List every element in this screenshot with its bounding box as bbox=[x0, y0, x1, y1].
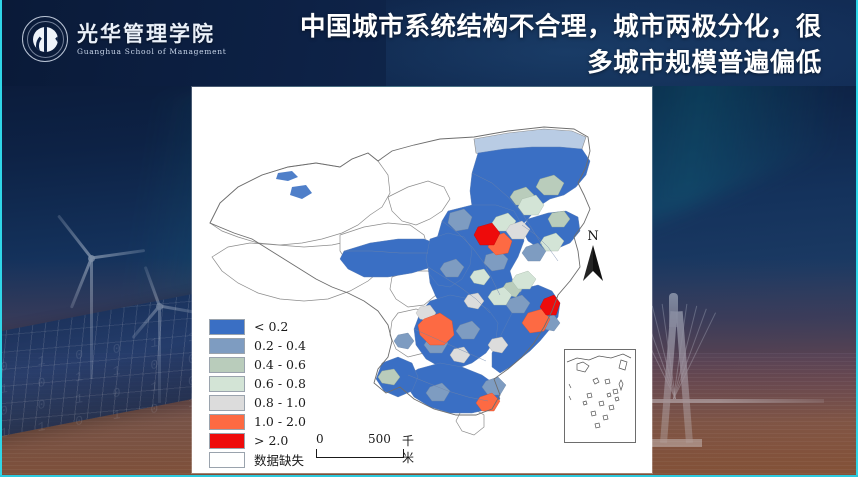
slide-header: 光华管理学院 Guanghua School of Management 中国城… bbox=[0, 0, 858, 86]
bridge-pylon-top bbox=[669, 293, 678, 327]
legend-swatch bbox=[209, 452, 245, 468]
turbine-blade bbox=[131, 305, 160, 339]
north-arrow-label: N bbox=[577, 230, 609, 243]
inset-map-graphic bbox=[565, 350, 633, 440]
legend-label: > 2.0 bbox=[254, 433, 288, 448]
map-panel: 中国城市人口规模合适度地图 bbox=[192, 87, 652, 473]
legend-label: 数据缺失 bbox=[254, 450, 304, 469]
slide-root: 0 1 0 0 1 1 0 1 0 1 0 1 1 0 0 1 0 1 0 0 … bbox=[0, 0, 858, 477]
legend-item: 0.6 - 0.8 bbox=[209, 374, 306, 393]
peking-university-seal-icon bbox=[22, 16, 68, 62]
logo-name-en: Guanghua School of Management bbox=[77, 48, 227, 56]
north-arrow: N bbox=[577, 230, 609, 288]
south-china-sea-inset bbox=[564, 349, 636, 443]
turbine-hub bbox=[156, 303, 163, 310]
turbine-hub bbox=[88, 255, 95, 262]
legend-label: < 0.2 bbox=[254, 319, 288, 334]
legend-item: 0.8 - 1.0 bbox=[209, 393, 306, 412]
legend-label: 0.6 - 0.8 bbox=[254, 376, 306, 391]
legend-label: 0.8 - 1.0 bbox=[254, 395, 306, 410]
legend-item: 数据缺失 bbox=[209, 450, 306, 469]
bridge-pylon-left bbox=[660, 311, 677, 443]
legend-label: 0.4 - 0.6 bbox=[254, 357, 306, 372]
map-legend: < 0.2 0.2 - 0.4 0.4 - 0.6 0.6 - 0.8 0.8 … bbox=[209, 317, 306, 469]
legend-swatch bbox=[209, 357, 245, 373]
institution-logo: 光华管理学院 Guanghua School of Management bbox=[22, 16, 227, 62]
scale-bar-labels: 0 500 千米 bbox=[316, 432, 421, 447]
wind-turbine-right bbox=[124, 283, 194, 403]
legend-item: > 2.0 bbox=[209, 431, 306, 450]
legend-swatch bbox=[209, 338, 245, 354]
page-title: 中国城市系统结构不合理，城市两极分化，很 多城市规模普遍偏低 bbox=[222, 9, 822, 81]
turbine-mast bbox=[158, 307, 161, 403]
legend-label: 0.2 - 0.4 bbox=[254, 338, 306, 353]
scale-unit-label: 千米 bbox=[402, 432, 421, 466]
legend-swatch bbox=[209, 433, 245, 449]
legend-swatch bbox=[209, 319, 245, 335]
wind-turbine-left bbox=[46, 235, 136, 381]
legend-swatch bbox=[209, 376, 245, 392]
legend-label: 1.0 - 2.0 bbox=[254, 414, 306, 429]
legend-item: 1.0 - 2.0 bbox=[209, 412, 306, 431]
legend-item: 0.2 - 0.4 bbox=[209, 336, 306, 355]
north-arrow-icon bbox=[577, 243, 609, 283]
scale-end-label: 500 bbox=[368, 432, 391, 446]
legend-swatch bbox=[209, 414, 245, 430]
turbine-mast bbox=[90, 259, 93, 379]
logo-text-block: 光华管理学院 Guanghua School of Management bbox=[77, 22, 227, 56]
legend-swatch bbox=[209, 395, 245, 411]
legend-item: 0.4 - 0.6 bbox=[209, 355, 306, 374]
page-title-line-1: 中国城市系统结构不合理，城市两极分化，很 bbox=[222, 9, 822, 45]
bridge-base bbox=[652, 439, 702, 447]
slide-edge-left bbox=[0, 0, 2, 477]
page-title-line-2: 多城市规模普遍偏低 bbox=[222, 45, 822, 81]
scale-start-label: 0 bbox=[316, 432, 324, 446]
logo-name-cn: 光华管理学院 bbox=[77, 22, 227, 45]
seal-glyph bbox=[33, 27, 58, 52]
legend-item: < 0.2 bbox=[209, 317, 306, 336]
scale-bar: 0 500 千米 bbox=[316, 432, 421, 458]
scale-bar-graphic bbox=[316, 449, 404, 458]
